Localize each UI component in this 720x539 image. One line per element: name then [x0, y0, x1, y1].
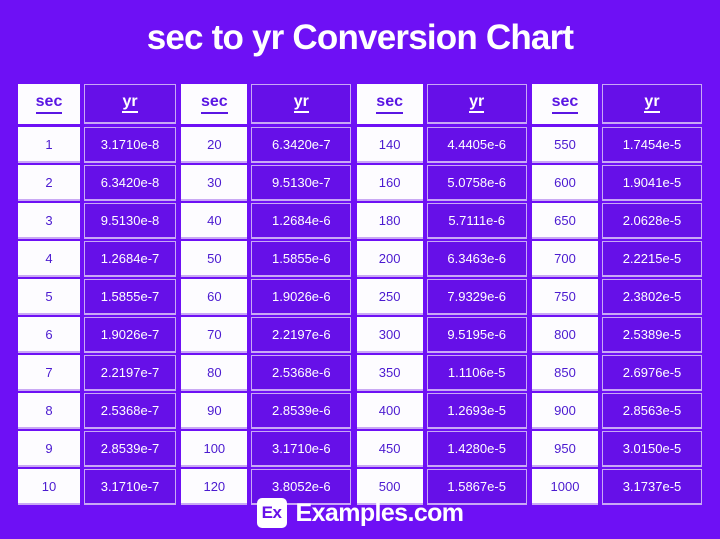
cell-sec-value: 800 [532, 317, 598, 353]
table-row: 702.2197e-6 [181, 317, 351, 353]
footer-branding: Ex Examples.com [0, 498, 720, 528]
table-header-row: secyr [18, 84, 176, 124]
column-header-yr: yr [84, 84, 176, 124]
column-header-sec: sec [18, 84, 80, 124]
table-header-row: secyr [532, 84, 702, 124]
conversion-tables-container: secyr13.1710e-826.3420e-839.5130e-841.26… [18, 84, 702, 484]
column-header-sec-label: sec [36, 94, 63, 114]
cell-yr-value: 1.5855e-6 [251, 241, 351, 277]
cell-sec-value: 80 [181, 355, 247, 391]
cell-sec-value: 6 [18, 317, 80, 353]
column-header-yr-label: yr [294, 94, 309, 114]
cell-sec-value: 9 [18, 431, 80, 467]
conversion-table-2: secyr206.3420e-7309.5130e-7401.2684e-650… [181, 84, 351, 505]
cell-sec-value: 8 [18, 393, 80, 429]
cell-sec-value: 850 [532, 355, 598, 391]
column-header-sec: sec [181, 84, 247, 124]
cell-yr-value: 2.8539e-6 [251, 393, 351, 429]
cell-yr-value: 3.0150e-5 [602, 431, 702, 467]
cell-yr-value: 1.9026e-7 [84, 317, 176, 353]
cell-sec-value: 950 [532, 431, 598, 467]
cell-yr-value: 2.6976e-5 [602, 355, 702, 391]
table-row: 206.3420e-7 [181, 127, 351, 163]
column-header-yr-label: yr [644, 94, 659, 114]
column-header-yr-label: yr [469, 94, 484, 114]
cell-yr-value: 1.7454e-5 [602, 127, 702, 163]
table-row: 8002.5389e-5 [532, 317, 702, 353]
cell-sec-value: 180 [357, 203, 423, 239]
table-header-row: secyr [181, 84, 351, 124]
cell-sec-value: 100 [181, 431, 247, 467]
table-row: 6502.0628e-5 [532, 203, 702, 239]
table-row: 7502.3802e-5 [532, 279, 702, 315]
cell-yr-value: 9.5130e-7 [251, 165, 351, 201]
cell-sec-value: 650 [532, 203, 598, 239]
column-header-yr: yr [602, 84, 702, 124]
conversion-table-4: secyr5501.7454e-56001.9041e-56502.0628e-… [532, 84, 702, 505]
table-header-row: secyr [357, 84, 527, 124]
cell-yr-value: 2.2215e-5 [602, 241, 702, 277]
cell-yr-value: 2.8563e-5 [602, 393, 702, 429]
table-row: 2507.9329e-6 [357, 279, 527, 315]
table-row: 601.9026e-6 [181, 279, 351, 315]
cell-sec-value: 160 [357, 165, 423, 201]
table-row: 26.3420e-8 [18, 165, 176, 201]
cell-yr-value: 6.3420e-8 [84, 165, 176, 201]
cell-sec-value: 700 [532, 241, 598, 277]
cell-sec-value: 550 [532, 127, 598, 163]
cell-sec-value: 30 [181, 165, 247, 201]
cell-sec-value: 400 [357, 393, 423, 429]
cell-yr-value: 2.2197e-6 [251, 317, 351, 353]
table-row: 8502.6976e-5 [532, 355, 702, 391]
table-row: 4501.4280e-5 [357, 431, 527, 467]
cell-sec-value: 750 [532, 279, 598, 315]
column-header-sec-label: sec [552, 94, 579, 114]
cell-sec-value: 50 [181, 241, 247, 277]
cell-sec-value: 300 [357, 317, 423, 353]
cell-sec-value: 450 [357, 431, 423, 467]
cell-sec-value: 3 [18, 203, 80, 239]
cell-sec-value: 600 [532, 165, 598, 201]
table-row: 902.8539e-6 [181, 393, 351, 429]
table-row: 72.2197e-7 [18, 355, 176, 391]
cell-yr-value: 1.2693e-5 [427, 393, 527, 429]
cell-sec-value: 200 [357, 241, 423, 277]
cell-sec-value: 900 [532, 393, 598, 429]
table-row: 1605.0758e-6 [357, 165, 527, 201]
cell-yr-value: 2.0628e-5 [602, 203, 702, 239]
table-row: 9002.8563e-5 [532, 393, 702, 429]
table-row: 39.5130e-8 [18, 203, 176, 239]
cell-sec-value: 5 [18, 279, 80, 315]
cell-yr-value: 6.3463e-6 [427, 241, 527, 277]
table-row: 4001.2693e-5 [357, 393, 527, 429]
column-header-yr: yr [251, 84, 351, 124]
cell-yr-value: 5.0758e-6 [427, 165, 527, 201]
column-header-sec-label: sec [201, 94, 228, 114]
cell-yr-value: 6.3420e-7 [251, 127, 351, 163]
cell-yr-value: 7.9329e-6 [427, 279, 527, 315]
table-row: 82.5368e-7 [18, 393, 176, 429]
table-row: 1805.7111e-6 [357, 203, 527, 239]
examples-logo-badge: Ex [257, 498, 287, 528]
table-row: 7002.2215e-5 [532, 241, 702, 277]
cell-sec-value: 20 [181, 127, 247, 163]
cell-yr-value: 5.7111e-6 [427, 203, 527, 239]
table-row: 6001.9041e-5 [532, 165, 702, 201]
table-row: 13.1710e-8 [18, 127, 176, 163]
cell-sec-value: 350 [357, 355, 423, 391]
column-header-yr-label: yr [122, 94, 137, 114]
conversion-table-3: secyr1404.4405e-61605.0758e-61805.7111e-… [357, 84, 527, 505]
cell-yr-value: 2.3802e-5 [602, 279, 702, 315]
table-row: 1404.4405e-6 [357, 127, 527, 163]
table-row: 41.2684e-7 [18, 241, 176, 277]
table-row: 2006.3463e-6 [357, 241, 527, 277]
table-row: 3501.1106e-5 [357, 355, 527, 391]
cell-sec-value: 60 [181, 279, 247, 315]
cell-yr-value: 2.5389e-5 [602, 317, 702, 353]
table-row: 51.5855e-7 [18, 279, 176, 315]
table-row: 61.9026e-7 [18, 317, 176, 353]
column-header-sec: sec [532, 84, 598, 124]
page-title: sec to yr Conversion Chart [0, 17, 720, 59]
cell-sec-value: 140 [357, 127, 423, 163]
cell-yr-value: 9.5195e-6 [427, 317, 527, 353]
cell-yr-value: 9.5130e-8 [84, 203, 176, 239]
cell-yr-value: 3.1710e-8 [84, 127, 176, 163]
cell-sec-value: 250 [357, 279, 423, 315]
cell-sec-value: 40 [181, 203, 247, 239]
cell-yr-value: 1.9026e-6 [251, 279, 351, 315]
cell-yr-value: 2.5368e-7 [84, 393, 176, 429]
table-row: 3009.5195e-6 [357, 317, 527, 353]
cell-yr-value: 1.5855e-7 [84, 279, 176, 315]
cell-yr-value: 1.2684e-7 [84, 241, 176, 277]
cell-sec-value: 70 [181, 317, 247, 353]
column-header-sec-label: sec [376, 94, 403, 114]
cell-yr-value: 1.1106e-5 [427, 355, 527, 391]
cell-sec-value: 7 [18, 355, 80, 391]
table-row: 9503.0150e-5 [532, 431, 702, 467]
cell-yr-value: 1.4280e-5 [427, 431, 527, 467]
cell-sec-value: 90 [181, 393, 247, 429]
cell-yr-value: 1.9041e-5 [602, 165, 702, 201]
cell-yr-value: 1.2684e-6 [251, 203, 351, 239]
table-row: 1003.1710e-6 [181, 431, 351, 467]
cell-sec-value: 4 [18, 241, 80, 277]
column-header-yr: yr [427, 84, 527, 124]
cell-yr-value: 2.2197e-7 [84, 355, 176, 391]
examples-brand-name: Examples.com [296, 501, 464, 526]
cell-yr-value: 4.4405e-6 [427, 127, 527, 163]
conversion-chart-page: sec to yr Conversion Chart secyr13.1710e… [0, 0, 720, 539]
table-row: 5501.7454e-5 [532, 127, 702, 163]
table-row: 401.2684e-6 [181, 203, 351, 239]
cell-yr-value: 3.1710e-6 [251, 431, 351, 467]
conversion-table-1: secyr13.1710e-826.3420e-839.5130e-841.26… [18, 84, 176, 505]
column-header-sec: sec [357, 84, 423, 124]
table-row: 309.5130e-7 [181, 165, 351, 201]
table-row: 92.8539e-7 [18, 431, 176, 467]
cell-sec-value: 1 [18, 127, 80, 163]
cell-sec-value: 2 [18, 165, 80, 201]
table-row: 802.5368e-6 [181, 355, 351, 391]
cell-yr-value: 2.8539e-7 [84, 431, 176, 467]
cell-yr-value: 2.5368e-6 [251, 355, 351, 391]
table-row: 501.5855e-6 [181, 241, 351, 277]
